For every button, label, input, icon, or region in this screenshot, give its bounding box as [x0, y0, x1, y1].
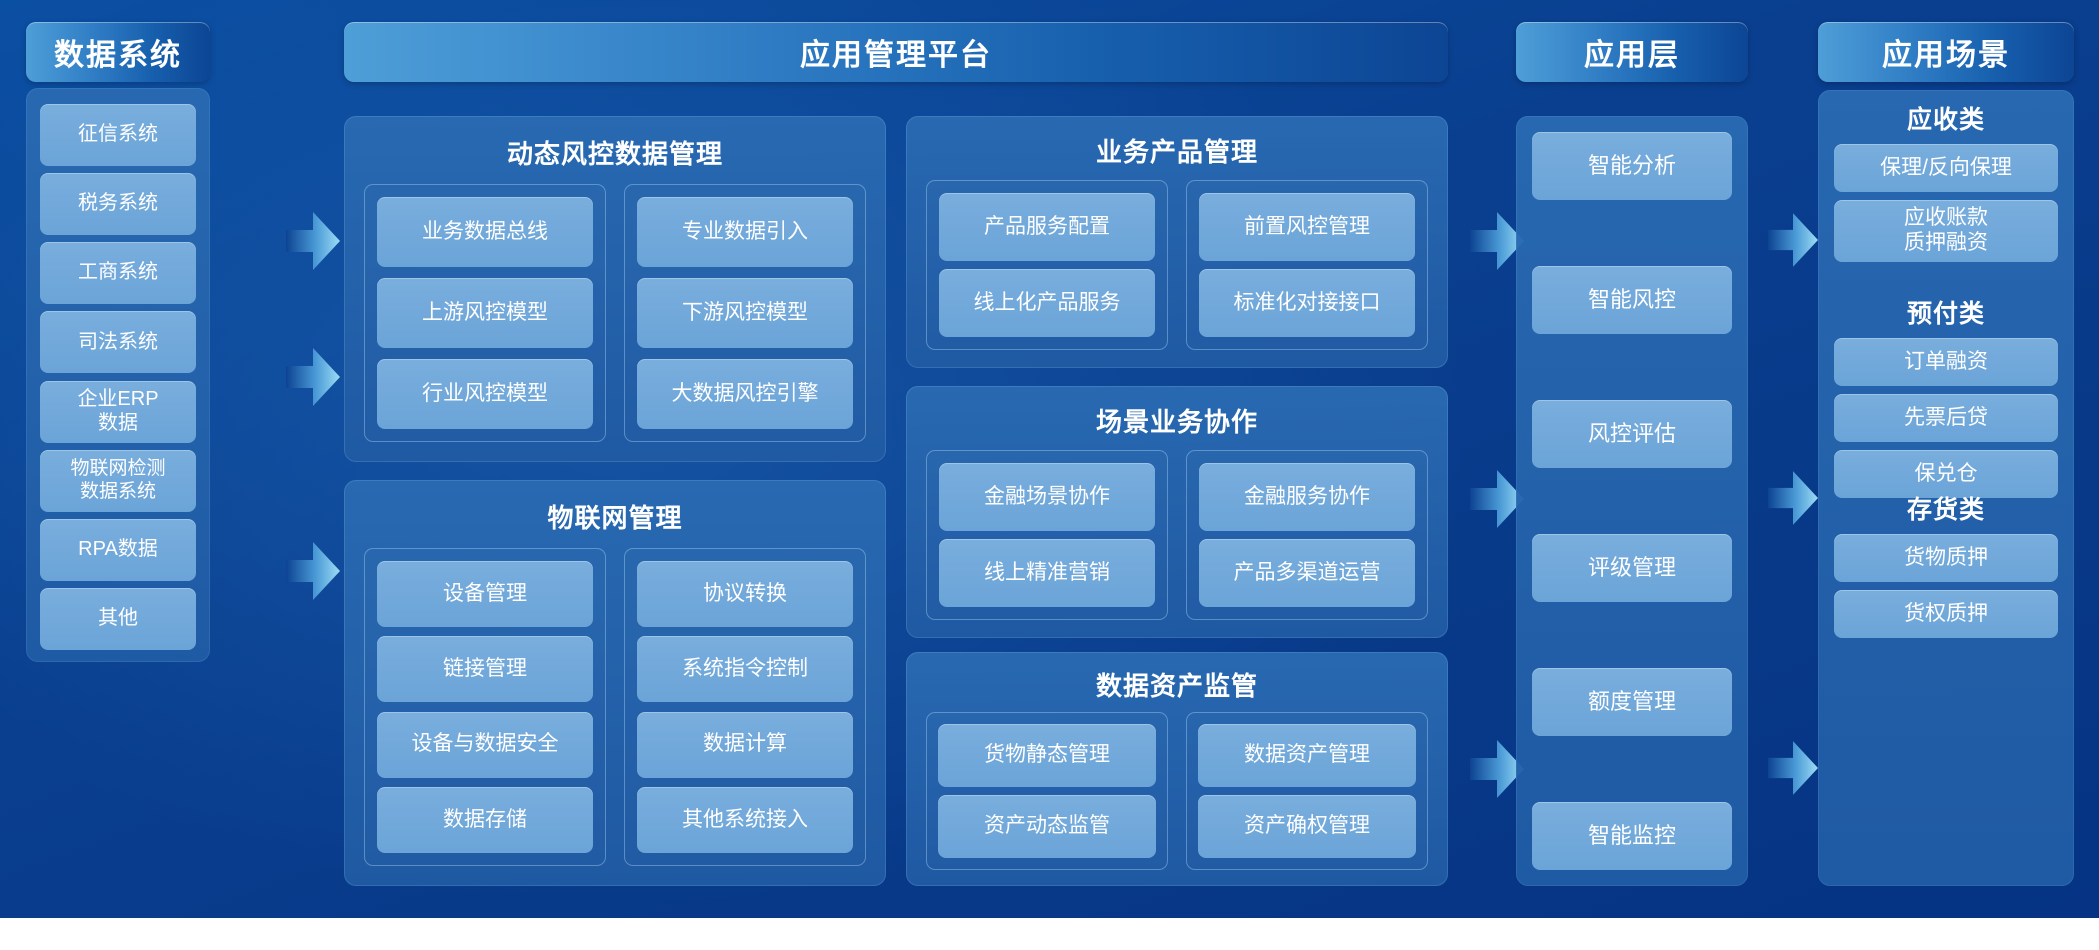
list-item[interactable]: 前置风控管理	[1199, 193, 1415, 261]
category-title-label: 存货类	[1907, 496, 1985, 524]
scenario-group-prepaid: 预付类 订单融资 先票后贷 保兑仓	[1834, 294, 2058, 498]
list-item-label: 上游风控模型	[422, 301, 548, 326]
list-item[interactable]: 数据资产管理	[1198, 724, 1416, 787]
list-item[interactable]: 司法系统	[40, 311, 196, 373]
list-item[interactable]: 线上精准营销	[939, 539, 1155, 607]
column-header-label-app-layer: 应用层	[1584, 30, 1680, 74]
list-item-label: 智能分析	[1588, 153, 1676, 179]
subgroup-left: 设备管理 链接管理 设备与数据安全 数据存储	[364, 548, 606, 866]
list-item-label: 线上化产品服务	[974, 291, 1121, 316]
list-item[interactable]: 征信系统	[40, 104, 196, 166]
list-item[interactable]: 大数据风控引擎	[637, 359, 853, 429]
list-item[interactable]: 智能监控	[1532, 802, 1732, 870]
list-item[interactable]: 资产确权管理	[1198, 795, 1416, 858]
list-item[interactable]: 保理/反向保理	[1834, 144, 2058, 192]
list-item[interactable]: 线上化产品服务	[939, 269, 1155, 337]
list-item[interactable]: 其他	[40, 588, 196, 650]
list-item-label: 资产动态监管	[984, 814, 1110, 839]
list-item-label: 智能监控	[1588, 823, 1676, 849]
list-item[interactable]: 金融服务协作	[1199, 463, 1415, 531]
module-title: 动态风控数据管理	[344, 134, 886, 171]
module-title: 业务产品管理	[906, 132, 1448, 169]
list-item-label: 设备与数据安全	[412, 732, 559, 757]
list-item-label: 工商系统	[78, 261, 158, 285]
column-header-app-layer: 应用层	[1516, 22, 1748, 82]
list-item[interactable]: 业务数据总线	[377, 197, 593, 267]
data-system-item-list: 征信系统 税务系统 工商系统 司法系统 企业ERP 数据 物联网检测 数据系统 …	[40, 104, 196, 650]
list-item-label: 征信系统	[78, 123, 158, 147]
scenario-group-receivable: 应收类 保理/反向保理 应收账款 质押融资	[1834, 100, 2058, 262]
list-item[interactable]: 工商系统	[40, 242, 196, 304]
list-item[interactable]: 订单融资	[1834, 338, 2058, 386]
list-item[interactable]: 产品多渠道运营	[1199, 539, 1415, 607]
list-item-label: 资产确权管理	[1244, 814, 1370, 839]
subgroup-right: 协议转换 系统指令控制 数据计算 其他系统接入	[624, 548, 866, 866]
subgroup-left: 货物静态管理 资产动态监管	[926, 712, 1168, 870]
module-title: 物联网管理	[344, 498, 886, 535]
list-item[interactable]: 协议转换	[637, 561, 853, 627]
module-title: 场景业务协作	[906, 402, 1448, 439]
column-header-scenarios: 应用场景	[1818, 22, 2074, 82]
column-header-label-scenarios: 应用场景	[1882, 30, 2010, 74]
list-item-label: 线上精准营销	[984, 561, 1110, 586]
list-item[interactable]: 税务系统	[40, 173, 196, 235]
list-item-label: 货物质押	[1904, 546, 1988, 571]
right-arrow-icon	[1768, 212, 1818, 268]
module-scenario-collaboration: 场景业务协作 金融场景协作 线上精准营销 金融服务协作 产品多渠道运营	[906, 386, 1448, 638]
list-item-label: 其他系统接入	[682, 808, 808, 833]
list-item-label: 数据资产管理	[1244, 743, 1370, 768]
subgroup-left: 业务数据总线 上游风控模型 行业风控模型	[364, 184, 606, 442]
module-title-label: 场景业务协作	[1096, 407, 1258, 437]
category-title: 应收类	[1834, 100, 2058, 136]
list-item-label: 链接管理	[443, 657, 527, 682]
list-item-label: 货权质押	[1904, 602, 1988, 627]
subgroup-left: 金融场景协作 线上精准营销	[926, 450, 1168, 620]
list-item-label: 设备管理	[443, 582, 527, 607]
module-iot-management: 物联网管理 设备管理 链接管理 设备与数据安全 数据存储 协议转换 系统指令控制…	[344, 480, 886, 886]
list-item[interactable]: 应收账款 质押融资	[1834, 200, 2058, 262]
list-item-label: 评级管理	[1588, 555, 1676, 581]
category-title-label: 预付类	[1907, 300, 1985, 328]
category-title: 预付类	[1834, 294, 2058, 330]
list-item[interactable]: 系统指令控制	[637, 636, 853, 702]
list-item-label: 风控评估	[1588, 421, 1676, 447]
column-app-layer: 应用层	[1516, 22, 1748, 82]
list-item[interactable]: 设备与数据安全	[377, 712, 593, 778]
module-title-label: 数据资产监管	[1096, 671, 1258, 701]
module-title: 数据资产监管	[906, 666, 1448, 703]
column-scenarios: 应用场景	[1818, 22, 2074, 82]
right-arrow-icon	[1768, 470, 1818, 526]
list-item[interactable]: 企业ERP 数据	[40, 381, 196, 443]
right-arrow-icon	[1768, 740, 1818, 796]
module-title-label: 物联网管理	[547, 503, 682, 533]
list-item-label: 数据存储	[443, 808, 527, 833]
list-item-label: 应收账款 质押融资	[1904, 206, 1988, 256]
list-item-label: 金融服务协作	[1244, 485, 1370, 510]
list-item-label: 产品多渠道运营	[1234, 561, 1381, 586]
list-item[interactable]: 标准化对接接口	[1199, 269, 1415, 337]
column-header-platform: 应用管理平台	[344, 22, 1448, 82]
subgroup-right: 数据资产管理 资产确权管理	[1186, 712, 1428, 870]
list-item-label: 保理/反向保理	[1880, 156, 2012, 181]
category-title-label: 应收类	[1907, 106, 1985, 134]
list-item[interactable]: 专业数据引入	[637, 197, 853, 267]
list-item[interactable]: 资产动态监管	[938, 795, 1156, 858]
list-item-label: 司法系统	[78, 331, 158, 355]
list-item-label: 行业风控模型	[422, 382, 548, 407]
module-title-label: 动态风控数据管理	[507, 139, 723, 169]
list-item[interactable]: 金融场景协作	[939, 463, 1155, 531]
list-item-label: 其他	[98, 607, 138, 631]
subgroup-left: 产品服务配置 线上化产品服务	[926, 180, 1168, 350]
module-data-asset-supervision: 数据资产监管 货物静态管理 资产动态监管 数据资产管理 资产确权管理	[906, 652, 1448, 886]
list-item-label: 物联网检测 数据系统	[70, 458, 165, 503]
right-arrow-icon	[286, 542, 340, 600]
module-dynamic-risk-data: 动态风控数据管理 业务数据总线 上游风控模型 行业风控模型 专业数据引入 下游风…	[344, 116, 886, 462]
list-item-label: RPA数据	[78, 538, 158, 562]
list-item-label: 订单融资	[1904, 350, 1988, 375]
list-item-label: 产品服务配置	[984, 215, 1110, 240]
list-item[interactable]: 上游风控模型	[377, 278, 593, 348]
list-item-label: 金融场景协作	[984, 485, 1110, 510]
list-item[interactable]: 额度管理	[1532, 668, 1732, 736]
module-business-product: 业务产品管理 产品服务配置 线上化产品服务 前置风控管理 标准化对接接口	[906, 116, 1448, 368]
column-header-label-data-system: 数据系统	[54, 30, 182, 74]
right-arrow-icon	[286, 348, 340, 406]
app-layer-item-list: 智能分析 智能风控 风控评估 评级管理 额度管理 智能监控	[1532, 132, 1732, 870]
list-item[interactable]: 智能风控	[1532, 266, 1732, 334]
list-item[interactable]: 智能分析	[1532, 132, 1732, 200]
architecture-diagram: 数据系统 征信系统 税务系统 工商系统 司法系统 企业ERP 数据 物联网检测 …	[0, 0, 2099, 950]
list-item-label: 货物静态管理	[984, 743, 1110, 768]
list-item[interactable]: 货权质押	[1834, 590, 2058, 638]
list-item[interactable]: 行业风控模型	[377, 359, 593, 429]
list-item-label: 下游风控模型	[682, 301, 808, 326]
subgroup-right: 前置风控管理 标准化对接接口	[1186, 180, 1428, 350]
column-header-label-platform: 应用管理平台	[800, 30, 992, 74]
list-item-label: 业务数据总线	[422, 220, 548, 245]
list-item-label: 大数据风控引擎	[672, 382, 819, 407]
list-item[interactable]: 产品服务配置	[939, 193, 1155, 261]
list-item-label: 前置风控管理	[1244, 215, 1370, 240]
list-item-label: 标准化对接接口	[1234, 291, 1381, 316]
column-header-data-system: 数据系统	[26, 22, 210, 82]
list-item-label: 先票后贷	[1904, 406, 1988, 431]
list-item-label: 保兑仓	[1915, 462, 1978, 487]
list-item-label: 专业数据引入	[682, 220, 808, 245]
list-item[interactable]: 设备管理	[377, 561, 593, 627]
list-item[interactable]: 链接管理	[377, 636, 593, 702]
right-arrow-icon	[286, 212, 340, 270]
list-item[interactable]: 货物静态管理	[938, 724, 1156, 787]
category-title: 存货类	[1834, 490, 2058, 526]
subgroup-right: 专业数据引入 下游风控模型 大数据风控引擎	[624, 184, 866, 442]
list-item[interactable]: 货物质押	[1834, 534, 2058, 582]
list-item[interactable]: 评级管理	[1532, 534, 1732, 602]
list-item[interactable]: 数据存储	[377, 787, 593, 853]
list-item-label: 税务系统	[78, 192, 158, 216]
list-item[interactable]: 数据计算	[637, 712, 853, 778]
list-item-label: 系统指令控制	[682, 657, 808, 682]
column-platform: 应用管理平台	[344, 22, 1448, 82]
list-item[interactable]: 先票后贷	[1834, 394, 2058, 442]
list-item-label: 协议转换	[703, 582, 787, 607]
list-item-label: 额度管理	[1588, 689, 1676, 715]
list-item[interactable]: 风控评估	[1532, 400, 1732, 468]
list-item[interactable]: 其他系统接入	[637, 787, 853, 853]
list-item[interactable]: 物联网检测 数据系统	[40, 450, 196, 512]
list-item-label: 智能风控	[1588, 287, 1676, 313]
scenario-group-inventory: 存货类 货物质押 货权质押	[1834, 490, 2058, 638]
list-item[interactable]: 下游风控模型	[637, 278, 853, 348]
subgroup-right: 金融服务协作 产品多渠道运营	[1186, 450, 1428, 620]
list-item-label: 数据计算	[703, 732, 787, 757]
list-item[interactable]: RPA数据	[40, 519, 196, 581]
module-title-label: 业务产品管理	[1096, 137, 1258, 167]
list-item-label: 企业ERP 数据	[77, 388, 158, 435]
